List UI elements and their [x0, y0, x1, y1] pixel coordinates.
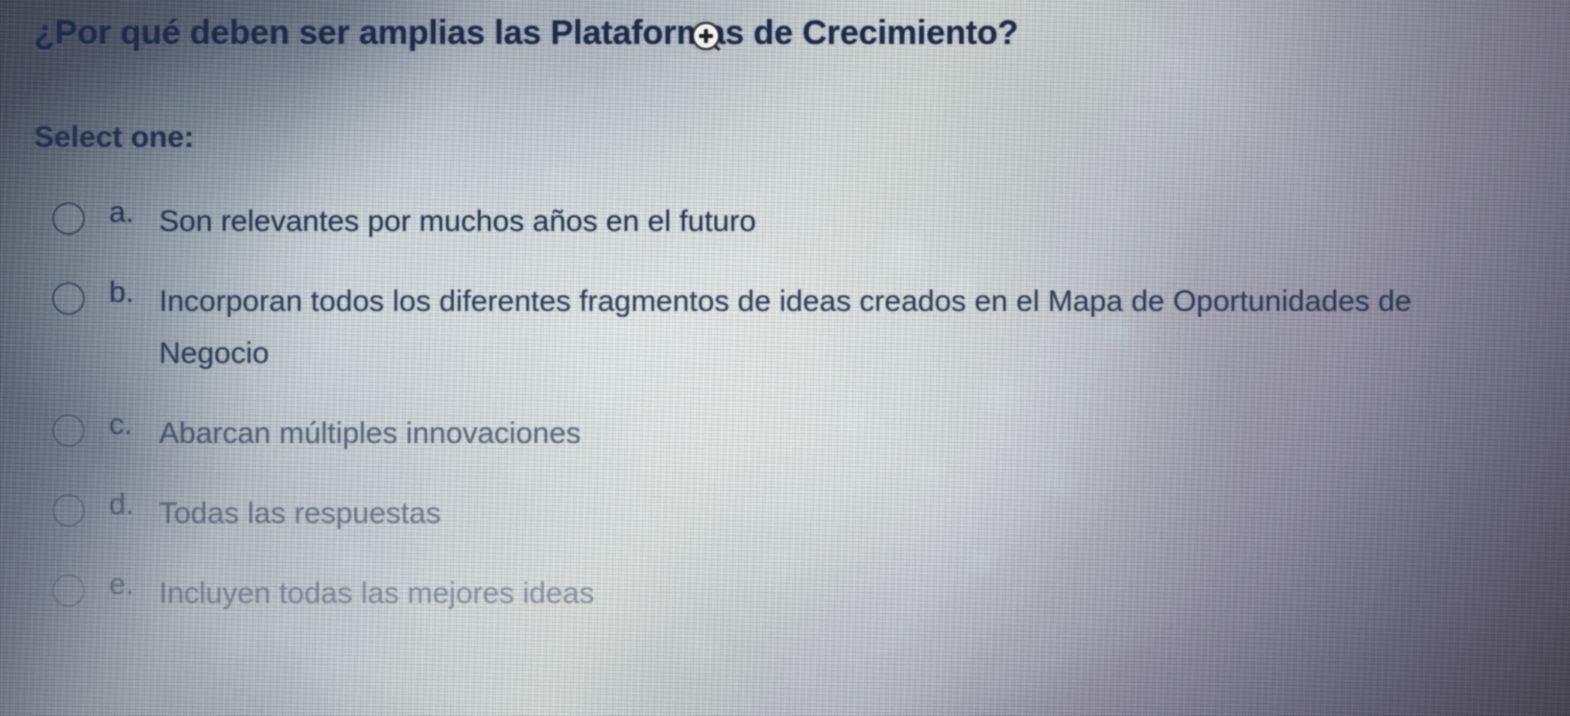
option-text-a: Son relevantes por muchos años en el fut… — [159, 196, 1459, 248]
answer-option-b[interactable]: b. Incorporan todos los diferentes fragm… — [0, 276, 1570, 380]
option-letter-a: a. — [109, 196, 159, 230]
radio-button-e[interactable] — [52, 574, 85, 607]
answer-option-e[interactable]: e. Incluyen todas las mejores ideas — [0, 568, 1570, 620]
radio-button-b[interactable] — [52, 282, 85, 315]
radio-button-a[interactable] — [52, 202, 85, 235]
answer-options-list: a. Son relevantes por muchos años en el … — [0, 196, 1570, 648]
zoom-crosshair-cursor-icon — [692, 22, 720, 50]
option-letter-b: b. — [109, 276, 159, 310]
option-text-c: Abarcan múltiples innovaciones — [159, 408, 1459, 460]
option-text-d: Todas las respuestas — [159, 488, 1459, 540]
radio-button-d[interactable] — [52, 494, 85, 527]
option-text-e: Incluyen todas las mejores ideas — [159, 568, 1459, 620]
answer-option-a[interactable]: a. Son relevantes por muchos años en el … — [0, 196, 1570, 248]
option-letter-c: c. — [109, 408, 159, 442]
option-text-b: Incorporan todos los diferentes fragment… — [159, 276, 1459, 380]
option-letter-e: e. — [109, 568, 159, 602]
option-letter-d: d. — [109, 488, 159, 522]
answer-option-d[interactable]: d. Todas las respuestas — [0, 488, 1570, 540]
quiz-content: ¿Por qué deben ser amplias las Plataform… — [0, 0, 1570, 716]
photographed-screen: ¿Por qué deben ser amplias las Plataform… — [0, 0, 1570, 716]
question-title: ¿Por qué deben ser amplias las Plataform… — [34, 14, 1018, 53]
radio-button-c[interactable] — [52, 414, 85, 447]
answer-option-c[interactable]: c. Abarcan múltiples innovaciones — [0, 408, 1570, 460]
select-one-label: Select one: — [34, 121, 194, 155]
